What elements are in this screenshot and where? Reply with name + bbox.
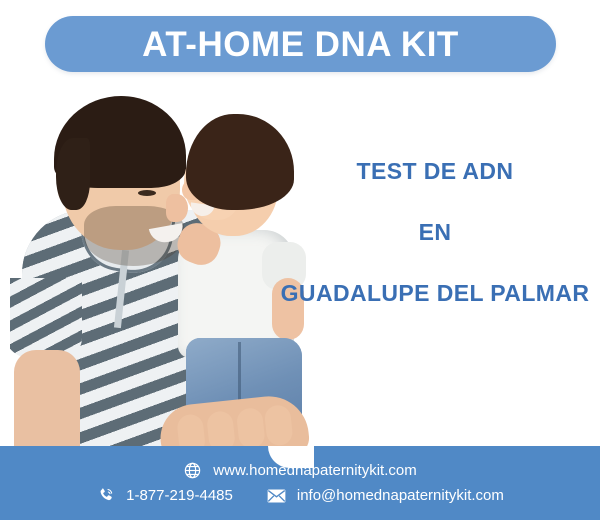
man-sideburn xyxy=(56,138,90,210)
sleeve-stripes xyxy=(10,278,82,358)
page-title: AT-HOME DNA KIT xyxy=(142,27,459,62)
envelope-icon xyxy=(267,486,286,505)
footer-contact-info: www.homednapaternitykit.com 1-877-219-44… xyxy=(0,446,600,520)
phone-icon xyxy=(96,486,115,505)
header-banner: AT-HOME DNA KIT xyxy=(45,16,556,72)
website-item[interactable]: www.homednapaternitykit.com xyxy=(183,461,416,480)
email-label: info@homednapaternitykit.com xyxy=(297,488,504,503)
email-item[interactable]: info@homednapaternitykit.com xyxy=(267,486,504,505)
footer-row-phone-email: 1-877-219-4485 info@homednapaternitykit.… xyxy=(0,486,600,505)
globe-icon xyxy=(183,461,202,480)
finger xyxy=(264,404,294,446)
phone-label: 1-877-219-4485 xyxy=(126,488,233,503)
headline-line-3: GUADALUPE DEL PALMAR xyxy=(272,282,598,305)
finger xyxy=(236,407,266,449)
poster-canvas: AT-HOME DNA KIT xyxy=(0,0,600,520)
man-sleeve xyxy=(10,278,82,358)
headline-line-2: EN xyxy=(272,221,598,244)
website-label: www.homednapaternitykit.com xyxy=(213,463,416,478)
headline-text-block: TEST DE ADN EN GUADALUPE DEL PALMAR xyxy=(272,152,598,305)
man-eye xyxy=(138,190,156,196)
footer-row-website: www.homednapaternitykit.com xyxy=(0,461,600,480)
man-nose xyxy=(166,194,188,222)
phone-item[interactable]: 1-877-219-4485 xyxy=(96,486,233,505)
headline-line-1: TEST DE ADN xyxy=(272,160,598,183)
